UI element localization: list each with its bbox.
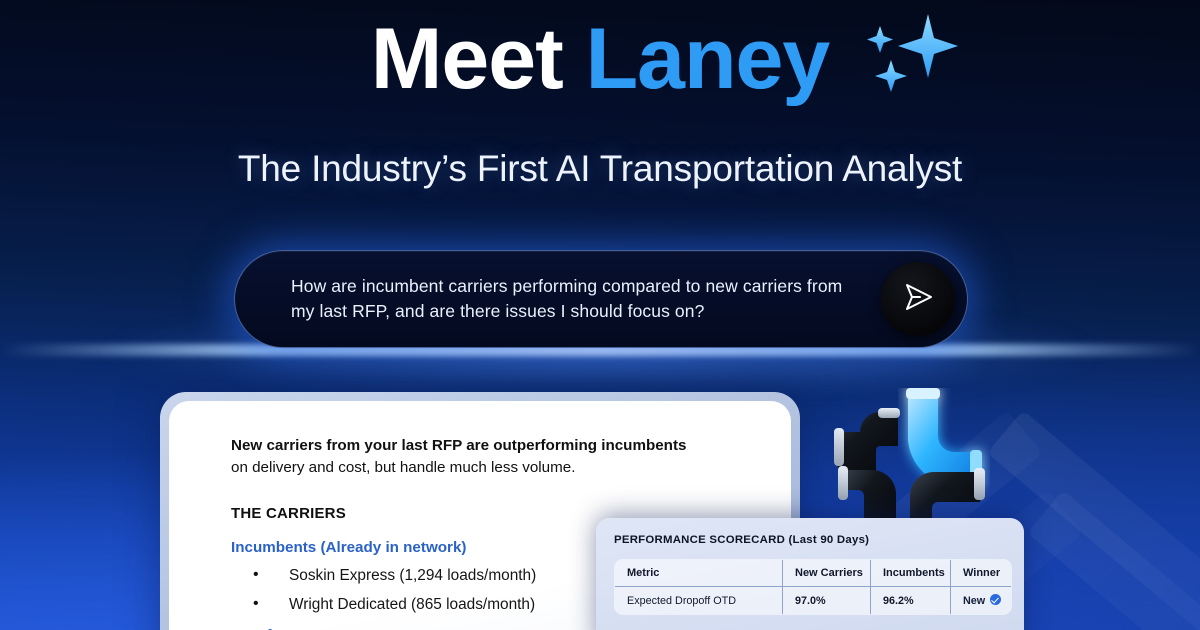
search-input[interactable]: How are incumbent carriers performing co… <box>291 274 867 324</box>
page-title: Meet Laney <box>0 14 1200 104</box>
scorecard-table: Metric New Carriers Incumbents Winner Ex… <box>614 559 1012 615</box>
column-header-incumbents: Incumbents <box>871 560 951 587</box>
ai-sparkle-icon <box>858 8 968 98</box>
hero-canvas: Meet Laney The Industry’s First AI Trans… <box>0 0 1200 630</box>
column-header-new-carriers: New Carriers <box>783 560 871 587</box>
cell-metric: Expected Dropoff OTD <box>615 587 783 615</box>
table-row: Expected Dropoff OTD 97.0% 96.2% New <box>615 587 1012 615</box>
cell-new-carriers: 97.0% <box>783 587 871 615</box>
scorecard-title: PERFORMANCE SCORECARD (Last 90 Days) <box>614 534 1010 546</box>
send-paper-plane-icon <box>898 277 938 322</box>
performance-scorecard: PERFORMANCE SCORECARD (Last 90 Days) Met… <box>596 518 1024 630</box>
column-header-metric: Metric <box>615 560 783 587</box>
answer-lede-rest: on delivery and cost, but handle much le… <box>231 459 575 476</box>
cell-winner: New <box>951 587 1012 615</box>
search-bar[interactable]: How are incumbent carriers performing co… <box>234 250 968 348</box>
winner-label: New <box>963 595 985 607</box>
page-subtitle: The Industry’s First AI Transportation A… <box>0 148 1200 190</box>
answer-lede-bold: New carriers from your last RFP are outp… <box>231 437 686 454</box>
check-circle-icon <box>990 594 1001 605</box>
cell-incumbents: 96.2% <box>871 587 951 615</box>
table-header-row: Metric New Carriers Incumbents Winner <box>615 560 1012 587</box>
headline-word-meet: Meet <box>371 11 586 107</box>
send-button[interactable] <box>881 262 955 336</box>
column-header-winner: Winner <box>951 560 1012 587</box>
answer-lede: New carriers from your last RFP are outp… <box>231 435 731 479</box>
headline-word-laney: Laney <box>586 11 830 107</box>
